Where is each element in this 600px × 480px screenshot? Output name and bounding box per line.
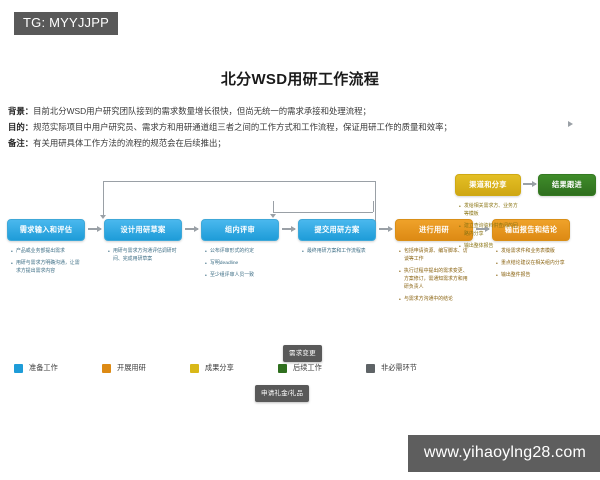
legend-swatch-icon	[366, 364, 375, 373]
flow-step-body: 发给相关需求方、业务方等模板 建立查询资料供查阅的回路内分享 输出整体报告	[455, 201, 521, 259]
legend-label: 准备工作	[29, 363, 58, 373]
flow-step-bullet: 输出整体报告	[463, 243, 518, 251]
legend-label: 成果分享	[205, 363, 234, 373]
legend-swatch-icon	[190, 364, 199, 373]
legend-label: 非必需环节	[381, 363, 417, 373]
legend-item-preparation[interactable]: 准备工作	[14, 363, 102, 373]
flow-step-title: 渠道和分享	[455, 174, 521, 196]
legend-swatch-icon	[14, 364, 23, 373]
flow-arrow-7-to-8	[523, 183, 536, 185]
flow-step-channel-sharing[interactable]: 渠道和分享 发给相关需求方、业务方等模板 建立查询资料供查阅的回路内分享 输出整…	[455, 174, 521, 259]
legend-item-conduct-research[interactable]: 开展用研	[102, 363, 190, 373]
flow-step-bullet: 建立查询资料供查阅的回路内分享	[463, 223, 518, 239]
late-stage-layer: 渠道和分享 发给相关需求方、业务方等模板 建立查询资料供查阅的回路内分享 输出整…	[0, 46, 600, 394]
legend-swatch-icon	[278, 364, 287, 373]
site-watermark: www.yihaoylng28.com	[408, 435, 600, 472]
legend-swatch-icon	[102, 364, 111, 373]
tg-watermark-tag: TG: MYYJJPP	[14, 12, 118, 35]
flow-step-result-followup[interactable]: 结果跟进	[538, 174, 596, 196]
legend-label: 后续工作	[293, 363, 322, 373]
legend-item-followup-work[interactable]: 后续工作	[278, 363, 366, 373]
legend-label: 开展用研	[117, 363, 146, 373]
legend: 准备工作 开展用研 成果分享 后续工作 非必需环节	[14, 363, 454, 373]
legend-item-optional-step[interactable]: 非必需环节	[366, 363, 454, 373]
flow-step-bullet: 发给相关需求方、业务方等模板	[463, 203, 518, 219]
flow-step-title: 结果跟进	[538, 174, 596, 196]
legend-item-results-sharing[interactable]: 成果分享	[190, 363, 278, 373]
